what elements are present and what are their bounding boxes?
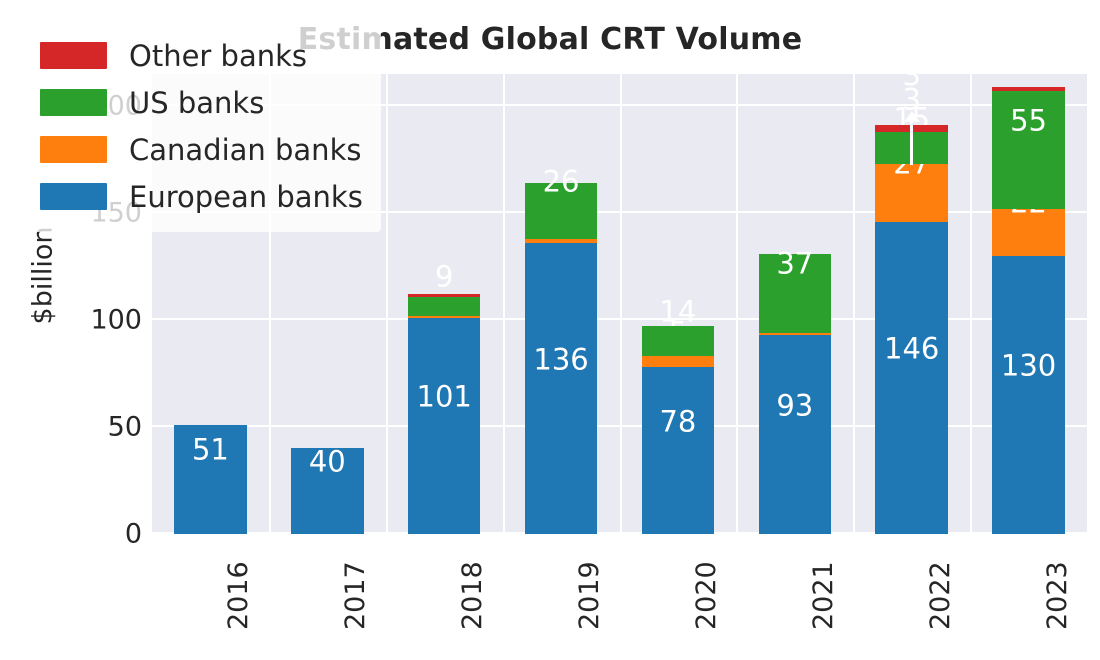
bar-segment-european-banks-2020[interactable] [642, 367, 714, 534]
x-tick-label-2017: 2017 [340, 561, 371, 630]
y-tick-label: 50 [42, 412, 142, 443]
bar-segment-european-banks-2019[interactable] [525, 243, 597, 534]
x-tick-label-2020: 2020 [691, 561, 722, 630]
bar-segment-us-banks-2021[interactable] [759, 254, 831, 333]
gridline-vertical [853, 74, 855, 534]
chart-figure: Estimated Global CRT Volume $billion 050… [0, 0, 1100, 660]
gridline-vertical [620, 74, 622, 534]
gridline-vertical [970, 74, 972, 534]
gridline-vertical [503, 74, 505, 534]
bar-segment-canadian-banks-2023[interactable] [992, 209, 1064, 256]
legend-swatch-icon [40, 42, 107, 69]
bar-segment-us-banks-2019[interactable] [525, 183, 597, 239]
legend-swatch-icon [40, 183, 107, 210]
bar-2016[interactable]: 51 [174, 425, 246, 534]
bar-2020[interactable]: 78514 [642, 326, 714, 534]
legend-label: Other banks [129, 39, 307, 73]
x-tick-label-2023: 2023 [1042, 561, 1073, 630]
bar-segment-canadian-banks-2019[interactable] [525, 239, 597, 243]
x-tick-label-2022: 2022 [925, 561, 956, 630]
x-tick-label-2016: 2016 [223, 561, 254, 630]
x-tick-label-2019: 2019 [574, 561, 605, 630]
bar-segment-canadian-banks-2022[interactable] [875, 164, 947, 222]
y-tick-label: 100 [42, 305, 142, 336]
legend-label: European banks [129, 180, 363, 214]
bar-segment-european-banks-2016[interactable] [174, 425, 246, 534]
bar-segment-us-banks-2020[interactable] [642, 326, 714, 356]
bar-segment-canadian-banks-2021[interactable] [759, 333, 831, 335]
x-tick-label-2021: 2021 [808, 561, 839, 630]
bar-segment-european-banks-2023[interactable] [992, 256, 1064, 534]
gridline-vertical [736, 74, 738, 534]
x-axis-ticks: 20162017201820192020202120222023 [152, 534, 1087, 660]
bar-2019[interactable]: 136226 [525, 183, 597, 534]
annotation-leader-line [910, 119, 913, 165]
legend-item-canadian-banks[interactable]: Canadian banks [40, 126, 363, 173]
bar-segment-european-banks-2022[interactable] [875, 222, 947, 534]
bar-segment-european-banks-2021[interactable] [759, 335, 831, 534]
bar-2021[interactable]: 9337 [759, 254, 831, 534]
legend-item-other-banks[interactable]: Other banks [40, 32, 363, 79]
legend-label: US banks [129, 86, 264, 120]
annotation-label-other-banks-2022: 3 [902, 58, 920, 92]
bar-segment-us-banks-2018[interactable] [408, 297, 480, 316]
chart-legend: Other banksUS banksCanadian banksEuropea… [26, 20, 381, 232]
bar-2018[interactable]: 1019 [408, 294, 480, 534]
annotation-arrow-head [904, 111, 920, 122]
gridline-vertical [386, 74, 388, 534]
bar-segment-canadian-banks-2020[interactable] [642, 356, 714, 367]
bar-segment-us-banks-2023[interactable] [992, 91, 1064, 209]
bar-2022[interactable]: 14627153 [875, 125, 947, 534]
bar-segment-european-banks-2017[interactable] [291, 448, 363, 534]
legend-swatch-icon [40, 136, 107, 163]
bar-2023[interactable]: 1302255 [992, 87, 1064, 534]
bar-segment-european-banks-2018[interactable] [408, 318, 480, 534]
legend-item-us-banks[interactable]: US banks [40, 79, 363, 126]
legend-swatch-icon [40, 89, 107, 116]
y-tick-label: 0 [42, 519, 142, 550]
legend-item-european-banks[interactable]: European banks [40, 173, 363, 220]
bar-segment-other-banks-2018[interactable] [408, 294, 480, 296]
x-tick-label-2018: 2018 [457, 561, 488, 630]
bar-segment-other-banks-2023[interactable] [992, 87, 1064, 91]
legend-label: Canadian banks [129, 133, 361, 167]
bar-value-label: 14 [642, 298, 714, 327]
bar-segment-canadian-banks-2018[interactable] [408, 316, 480, 318]
bar-2017[interactable]: 40 [291, 448, 363, 534]
bar-value-label: 9 [408, 263, 480, 292]
